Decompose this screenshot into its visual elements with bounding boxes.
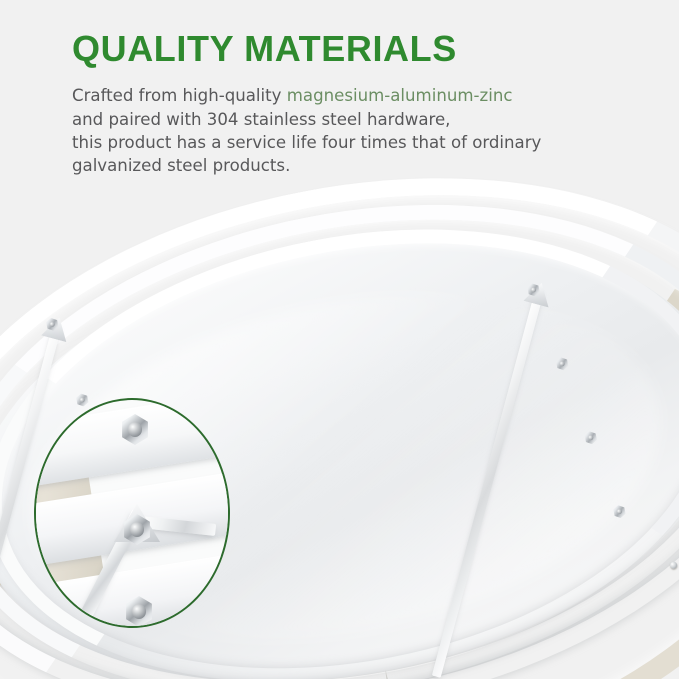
product-feature-image: QUALITY MATERIALS Crafted from high-qual… [0, 0, 679, 679]
description-line-2: and paired with 304 stainless steel hard… [72, 108, 632, 131]
callout-contents [36, 400, 228, 626]
feature-description: Crafted from high-quality magnesium-alum… [72, 84, 632, 178]
description-line-1: Crafted from high-quality magnesium-alum… [72, 84, 632, 107]
feature-text-block: QUALITY MATERIALS Crafted from high-qual… [72, 30, 632, 178]
page-title: QUALITY MATERIALS [72, 30, 632, 68]
hardware-detail-callout [34, 398, 230, 628]
description-line-4: galvanized steel products. [72, 154, 632, 177]
material-highlight: magnesium-aluminum-zinc [287, 86, 513, 105]
description-line-3: this product has a service life four tim… [72, 131, 632, 154]
description-line-1-prefix: Crafted from high-quality [72, 86, 287, 105]
